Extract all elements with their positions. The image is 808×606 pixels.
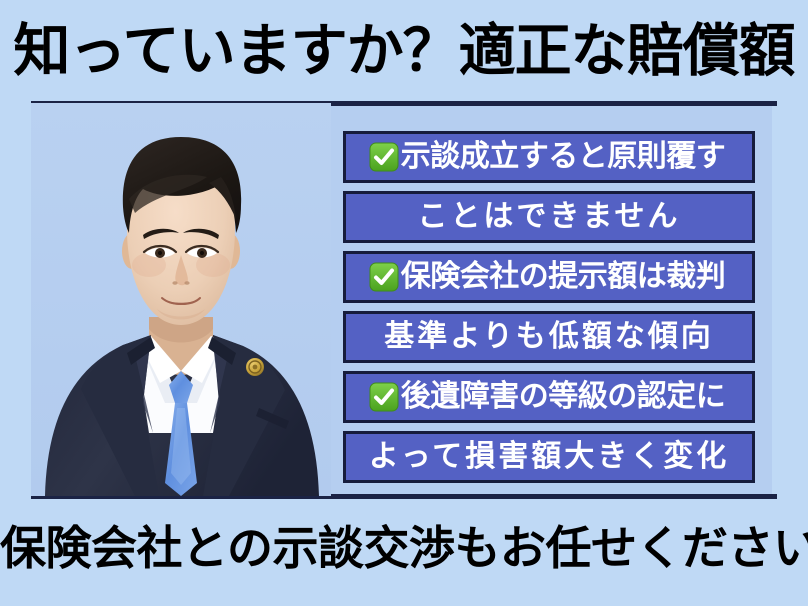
claim-text: 示談成立すると原則覆す (401, 140, 726, 174)
check-mark-icon (369, 262, 399, 292)
claim-text: 保険会社の提示額は裁判 (401, 260, 726, 294)
infographic-banner: 知っていますか？適正な賠償額 (0, 0, 808, 606)
check-mark-icon (369, 142, 399, 172)
claim-row-5: 後遺障害の等級の認定に (343, 371, 755, 423)
claim-row-1: 示談成立すると原則覆す (343, 131, 755, 183)
claim-text: よって損害額大きく変化 (369, 440, 730, 474)
claim-text: 基準よりも低額な傾向 (384, 320, 713, 354)
claim-text: 後遺障害の等級の認定に (401, 380, 726, 414)
page-title: 知っていますか？適正な賠償額 (0, 14, 808, 88)
claim-row-4: 基準よりも低額な傾向 (343, 311, 755, 363)
claim-row-2: ことはできません (343, 191, 755, 243)
claim-row-3: 保険会社の提示額は裁判 (343, 251, 755, 303)
claim-row-6: よって損害額大きく変化 (343, 431, 755, 483)
claim-list: 示談成立すると原則覆す ことはできません 保険会社の提示額は裁判 基準よりも低額… (343, 131, 755, 483)
claim-text: ことはできません (417, 200, 680, 234)
check-mark-icon (369, 382, 399, 412)
lawyer-portrait-photo (31, 103, 331, 496)
lawyer-badge (246, 358, 264, 376)
footer-message: 保険会社との示談交渉もお任せください (0, 512, 808, 584)
